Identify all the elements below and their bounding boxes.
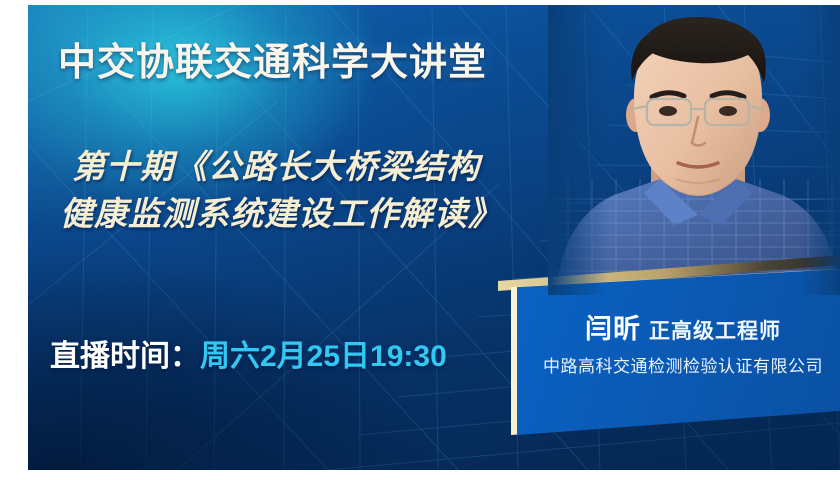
live-time-row: 直播时间：周六2月25日19:30 <box>50 331 447 375</box>
episode-subtitle-line1: 第十期《公路长大桥梁结构 <box>58 144 578 191</box>
live-time-value: 周六2月25日19:30 <box>200 340 447 373</box>
poster-banner: 中交协联交通科学大讲堂 第十期《公路长大桥梁结构 健康监测系统建设工作解读》 直… <box>28 5 840 470</box>
speaker-portrait <box>548 5 840 295</box>
name-card-content: 闫昕正高级工程师 中路高科交通检测检验认证有限公司 <box>511 267 840 435</box>
live-time-label: 直播时间： <box>50 340 200 373</box>
frame-top-margin <box>0 0 840 5</box>
frame-bottom-margin <box>0 470 840 480</box>
page-title: 中交协联交通科学大讲堂 <box>58 31 487 86</box>
frame-left-margin <box>0 0 28 480</box>
speaker-title: 正高级工程师 <box>649 320 781 343</box>
poster-root: 中交协联交通科学大讲堂 第十期《公路长大桥梁结构 健康监测系统建设工作解读》 直… <box>0 0 840 480</box>
speaker-name-card: 闫昕正高级工程师 中路高科交通检测检验认证有限公司 <box>511 267 840 435</box>
episode-subtitle-line2: 健康监测系统建设工作解读》 <box>58 191 578 238</box>
speaker-identity-row: 闫昕正高级工程师 <box>511 307 840 346</box>
episode-subtitle: 第十期《公路长大桥梁结构 健康监测系统建设工作解读》 <box>58 144 578 238</box>
speaker-organization: 中路高科交通检测检验认证有限公司 <box>511 352 840 377</box>
speaker-name: 闫昕 <box>585 314 641 344</box>
